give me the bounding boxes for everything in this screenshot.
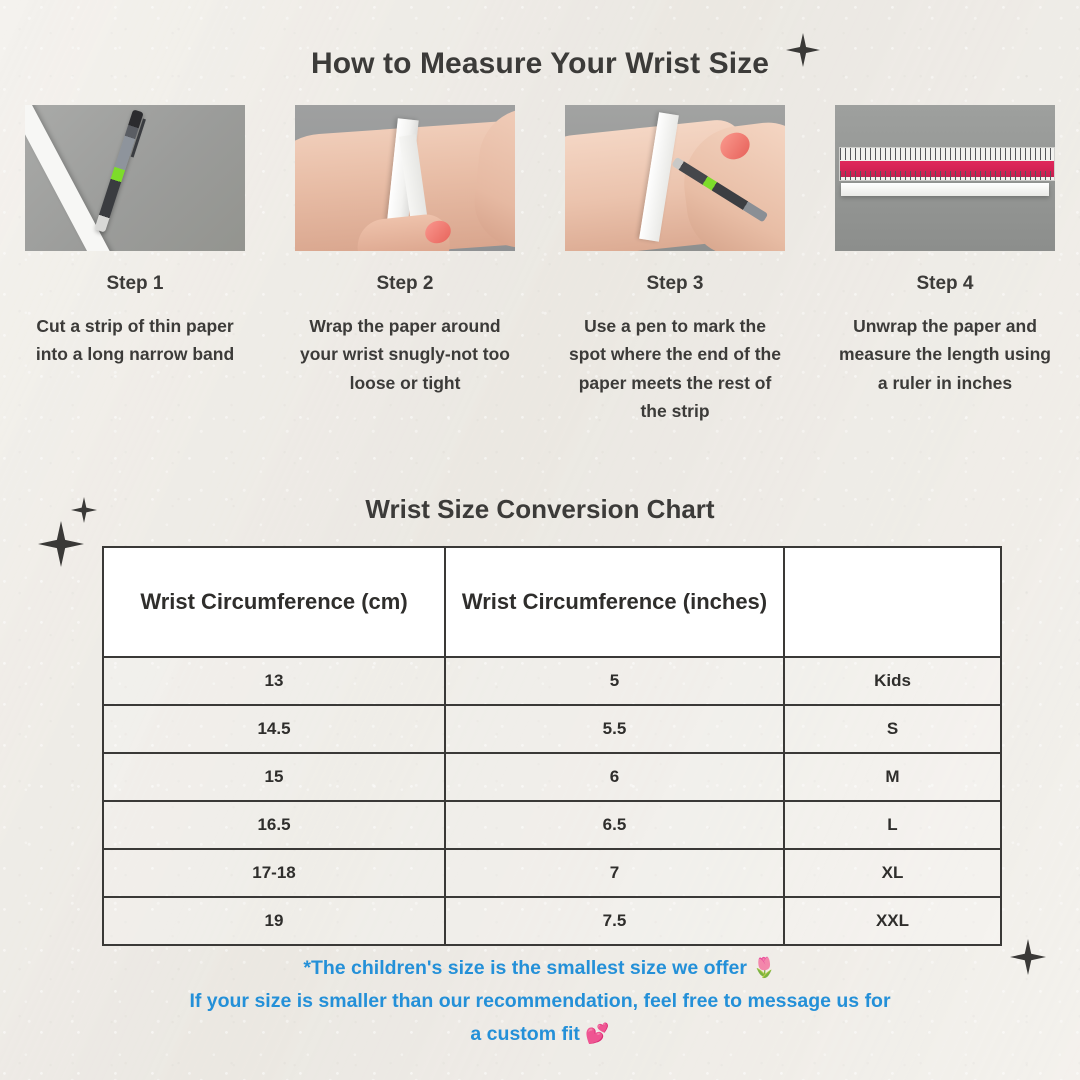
cell-size: XXL (784, 897, 1001, 945)
table-row: 16.5 6.5 L (103, 801, 1001, 849)
header-cm: Wrist Circumference (cm) (103, 547, 445, 657)
step-1-body: Cut a strip of thin paper into a long na… (25, 312, 245, 369)
step-2-photo (295, 105, 515, 251)
cell-size: S (784, 705, 1001, 753)
paper-strip-shape (841, 183, 1049, 196)
cell-size: L (784, 801, 1001, 849)
step-2-body: Wrap the paper around your wrist snugly-… (295, 312, 515, 397)
cell-inches: 6.5 (445, 801, 784, 849)
footer-line-3: a custom fit 💕 (60, 1018, 1020, 1051)
cell-inches: 7 (445, 849, 784, 897)
header-size (784, 547, 1001, 657)
cell-cm: 19 (103, 897, 445, 945)
cell-inches: 6 (445, 753, 784, 801)
table-row: 19 7.5 XXL (103, 897, 1001, 945)
wrist-size-guide-page: How to Measure Your Wrist Size Step 1 Cu… (0, 0, 1080, 1080)
footer-note: *The children's size is the smallest siz… (60, 952, 1020, 1050)
cell-cm: 17-18 (103, 849, 445, 897)
step-3-photo (565, 105, 785, 251)
step-column-2: Step 2 Wrap the paper around your wrist … (295, 105, 515, 425)
conversion-chart-title: Wrist Size Conversion Chart (0, 494, 1080, 525)
footer-line-1: *The children's size is the smallest siz… (60, 952, 1020, 985)
step-3-body: Use a pen to mark the spot where the end… (565, 312, 785, 425)
cell-inches: 5.5 (445, 705, 784, 753)
step-4-body: Unwrap the paper and measure the length … (835, 312, 1055, 397)
step-4-title: Step 4 (835, 273, 1055, 295)
steps-row: Step 1 Cut a strip of thin paper into a … (0, 105, 1080, 425)
cell-size: M (784, 753, 1001, 801)
step-2-title: Step 2 (295, 273, 515, 295)
table-row: 15 6 M (103, 753, 1001, 801)
cell-inches: 5 (445, 657, 784, 705)
ruler-shape (839, 147, 1055, 181)
header-inches: Wrist Circumference (inches) (445, 547, 784, 657)
step-4-photo (835, 105, 1055, 251)
cell-cm: 16.5 (103, 801, 445, 849)
step-1-title: Step 1 (25, 273, 245, 295)
cell-cm: 14.5 (103, 705, 445, 753)
cell-size: Kids (784, 657, 1001, 705)
cell-cm: 15 (103, 753, 445, 801)
cell-size: XL (784, 849, 1001, 897)
table-row: 14.5 5.5 S (103, 705, 1001, 753)
cell-cm: 13 (103, 657, 445, 705)
page-title: How to Measure Your Wrist Size (0, 47, 1080, 81)
table-header-row: Wrist Circumference (cm) Wrist Circumfer… (103, 547, 1001, 657)
step-column-3: Step 3 Use a pen to mark the spot where … (565, 105, 785, 425)
cell-inches: 7.5 (445, 897, 784, 945)
table-body: 13 5 Kids 14.5 5.5 S 15 6 M 16.5 6.5 L 1… (103, 657, 1001, 945)
step-1-photo (25, 105, 245, 251)
step-column-4: Step 4 Unwrap the paper and measure the … (835, 105, 1055, 425)
step-column-1: Step 1 Cut a strip of thin paper into a … (25, 105, 245, 425)
step-3-title: Step 3 (565, 273, 785, 295)
wrist-size-conversion-table: Wrist Circumference (cm) Wrist Circumfer… (102, 546, 1002, 946)
table-row: 13 5 Kids (103, 657, 1001, 705)
sparkle-chart-large-icon (38, 521, 84, 567)
table-row: 17-18 7 XL (103, 849, 1001, 897)
footer-line-2: If your size is smaller than our recomme… (60, 985, 1020, 1018)
